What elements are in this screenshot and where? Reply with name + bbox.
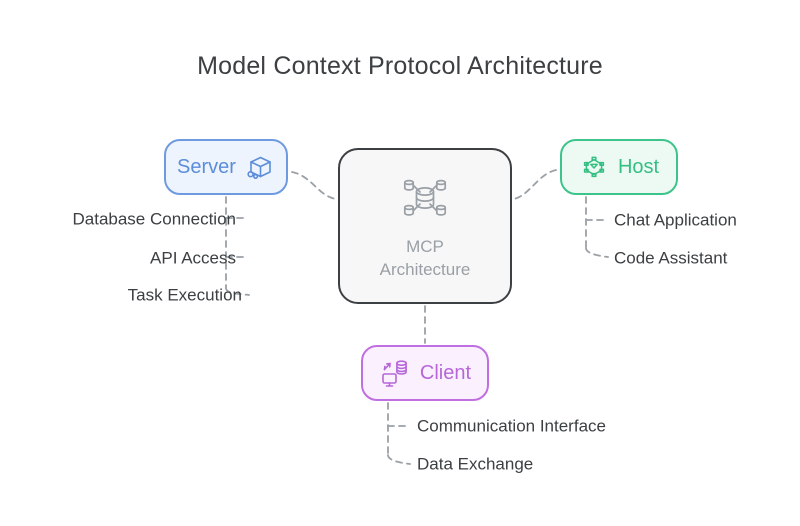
package-box-icon	[245, 152, 275, 182]
center-node-label: MCP Architecture	[380, 236, 471, 280]
node-host-label: Host	[618, 157, 659, 177]
node-client[interactable]: Client	[361, 345, 489, 401]
connector-host-to-center	[514, 170, 556, 199]
branch-label-api-access: API Access	[150, 250, 236, 267]
branch-label-task-execution: Task Execution	[128, 287, 242, 304]
center-node-label-line2: Architecture	[380, 259, 471, 281]
node-server-label: Server	[177, 157, 236, 177]
network-mesh-icon	[579, 152, 609, 182]
page-title: Model Context Protocol Architecture	[0, 52, 800, 81]
branch-label-code-assistant: Code Assistant	[614, 250, 727, 267]
center-node-mcp-architecture[interactable]: MCP Architecture	[338, 148, 512, 304]
branch-label-communication-interface: Communication Interface	[417, 418, 606, 435]
branch-stub-host-2	[586, 248, 608, 257]
node-server[interactable]: Server	[164, 139, 288, 195]
branch-stub-client-2	[388, 455, 410, 464]
monitor-database-icon	[379, 357, 411, 389]
center-node-label-line1: MCP	[380, 236, 471, 258]
branch-label-database-connection: Database Connection	[72, 211, 236, 228]
connector-server-to-center	[292, 172, 336, 199]
distributed-database-icon	[398, 171, 452, 230]
branch-label-chat-application: Chat Application	[614, 212, 737, 229]
node-host[interactable]: Host	[560, 139, 678, 195]
node-client-label: Client	[420, 363, 471, 383]
branch-label-data-exchange: Data Exchange	[417, 456, 533, 473]
